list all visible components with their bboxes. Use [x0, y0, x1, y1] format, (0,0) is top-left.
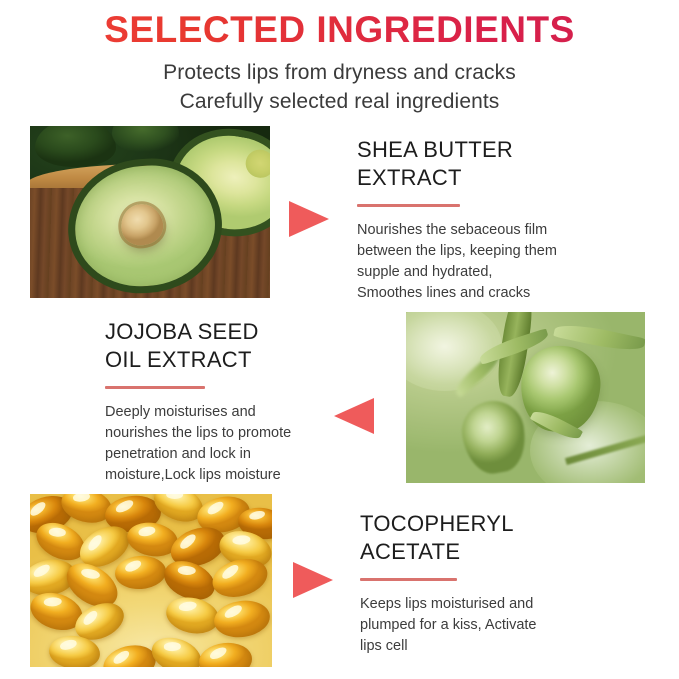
section-title-shea-butter: SHEA BUTTER EXTRACT: [357, 136, 647, 192]
section-title-jojoba: JOJOBA SEED OIL EXTRACT: [105, 318, 365, 374]
jojoba-seed-photo: [406, 312, 645, 483]
section-title-line-2: EXTRACT: [357, 164, 647, 192]
arrow-right-shea: [289, 201, 329, 237]
body-line-1: Deeply moisturises and: [105, 402, 365, 423]
body-line-3: penetration and lock in: [105, 444, 365, 465]
body-line-2: between the lips, keeping them: [357, 241, 647, 262]
section-shea-butter: SHEA BUTTER EXTRACT Nourishes the sebace…: [357, 136, 647, 304]
body-line-2: nourishes the lips to promote: [105, 423, 365, 444]
section-title-tocopheryl: TOCOPHERYL ACETATE: [360, 510, 650, 566]
body-line-4: Smoothes lines and cracks: [357, 283, 647, 304]
arrow-right-tocopheryl: [293, 562, 333, 598]
section-body-tocopheryl: Keeps lips moisturised and plumped for a…: [360, 594, 650, 657]
section-title-line-1: JOJOBA SEED: [105, 318, 365, 346]
section-tocopheryl-acetate: TOCOPHERYL ACETATE Keeps lips moisturise…: [360, 510, 650, 657]
section-jojoba-seed-oil: JOJOBA SEED OIL EXTRACT Deeply moisturis…: [105, 318, 365, 486]
body-line-1: Keeps lips moisturised and: [360, 594, 650, 615]
section-body-shea-butter: Nourishes the sebaceous film between the…: [357, 220, 647, 304]
subtitle-line-1: Protects lips from dryness and cracks: [0, 58, 679, 87]
avocado-pit: [118, 200, 167, 249]
avocado-photo: [30, 126, 270, 298]
section-divider-jojoba: [105, 386, 205, 389]
page-title: SELECTED INGREDIENTS: [0, 8, 679, 52]
section-title-line-1: SHEA BUTTER: [357, 136, 647, 164]
body-line-3: supple and hydrated,: [357, 262, 647, 283]
body-line-4: moisture,Lock lips moisture: [105, 465, 365, 486]
ingredients-infographic: SELECTED INGREDIENTS Protects lips from …: [0, 0, 679, 679]
avocado-pit-cavity: [242, 146, 270, 182]
body-line-2: plumped for a kiss, Activate: [360, 615, 650, 636]
arrow-left-jojoba: [334, 398, 374, 434]
softgel-capsules-photo: [30, 494, 272, 667]
body-line-3: lips cell: [360, 636, 650, 657]
subtitle-line-2: Carefully selected real ingredients: [0, 87, 679, 116]
avocado-whole-fruit: [35, 126, 117, 167]
section-title-line-2: ACETATE: [360, 538, 650, 566]
section-body-jojoba: Deeply moisturises and nourishes the lip…: [105, 402, 365, 486]
header: SELECTED INGREDIENTS Protects lips from …: [0, 0, 679, 116]
section-divider-shea: [357, 204, 460, 207]
body-line-1: Nourishes the sebaceous film: [357, 220, 647, 241]
section-title-line-2: OIL EXTRACT: [105, 346, 365, 374]
section-divider-tocopheryl: [360, 578, 457, 581]
section-title-line-1: TOCOPHERYL: [360, 510, 650, 538]
